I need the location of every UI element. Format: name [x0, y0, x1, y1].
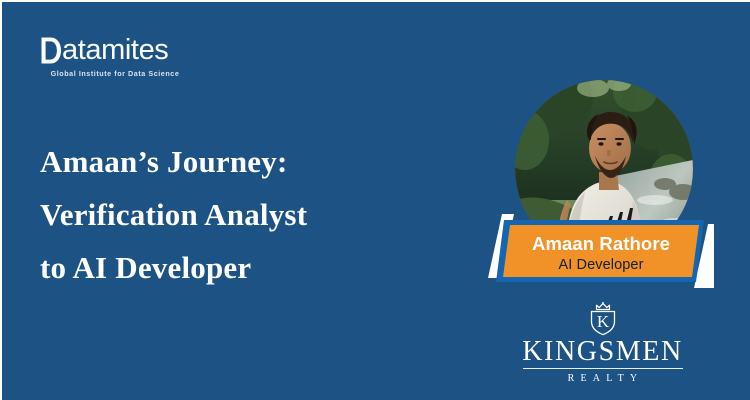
svg-text:K: K: [596, 312, 609, 331]
kingsmen-wordmark: KINGSMEN: [510, 337, 695, 367]
headline-line-2: Verification Analyst: [40, 188, 460, 241]
promo-banner: atamites Global Institute for Data Scien…: [0, 0, 750, 400]
headline-line-1: Amaan’s Journey:: [40, 135, 460, 188]
datamites-wordmark: atamites: [40, 35, 192, 65]
badge-person-role: AI Developer: [558, 255, 643, 275]
badge-person-name: Amaan Rathore: [532, 232, 670, 255]
datamites-logo: atamites Global Institute for Data Scien…: [40, 35, 192, 78]
crown-shield-icon: K: [510, 302, 695, 336]
datamites-d-mark-icon: [40, 36, 62, 65]
kingsmen-divider: [523, 368, 683, 369]
datamites-tagline: Global Institute for Data Science: [40, 69, 190, 78]
datamites-logo-text: atamites: [62, 36, 168, 65]
kingsmen-subtitle: REALTY: [510, 373, 695, 385]
badge-text-block: Amaan Rathore AI Developer: [488, 210, 714, 292]
name-badge: Amaan Rathore AI Developer: [488, 210, 714, 292]
kingsmen-realty-logo: K KINGSMEN REALTY: [510, 302, 695, 385]
banner-headline: Amaan’s Journey: Verification Analyst to…: [40, 135, 460, 294]
headline-line-3: to AI Developer: [40, 241, 460, 294]
